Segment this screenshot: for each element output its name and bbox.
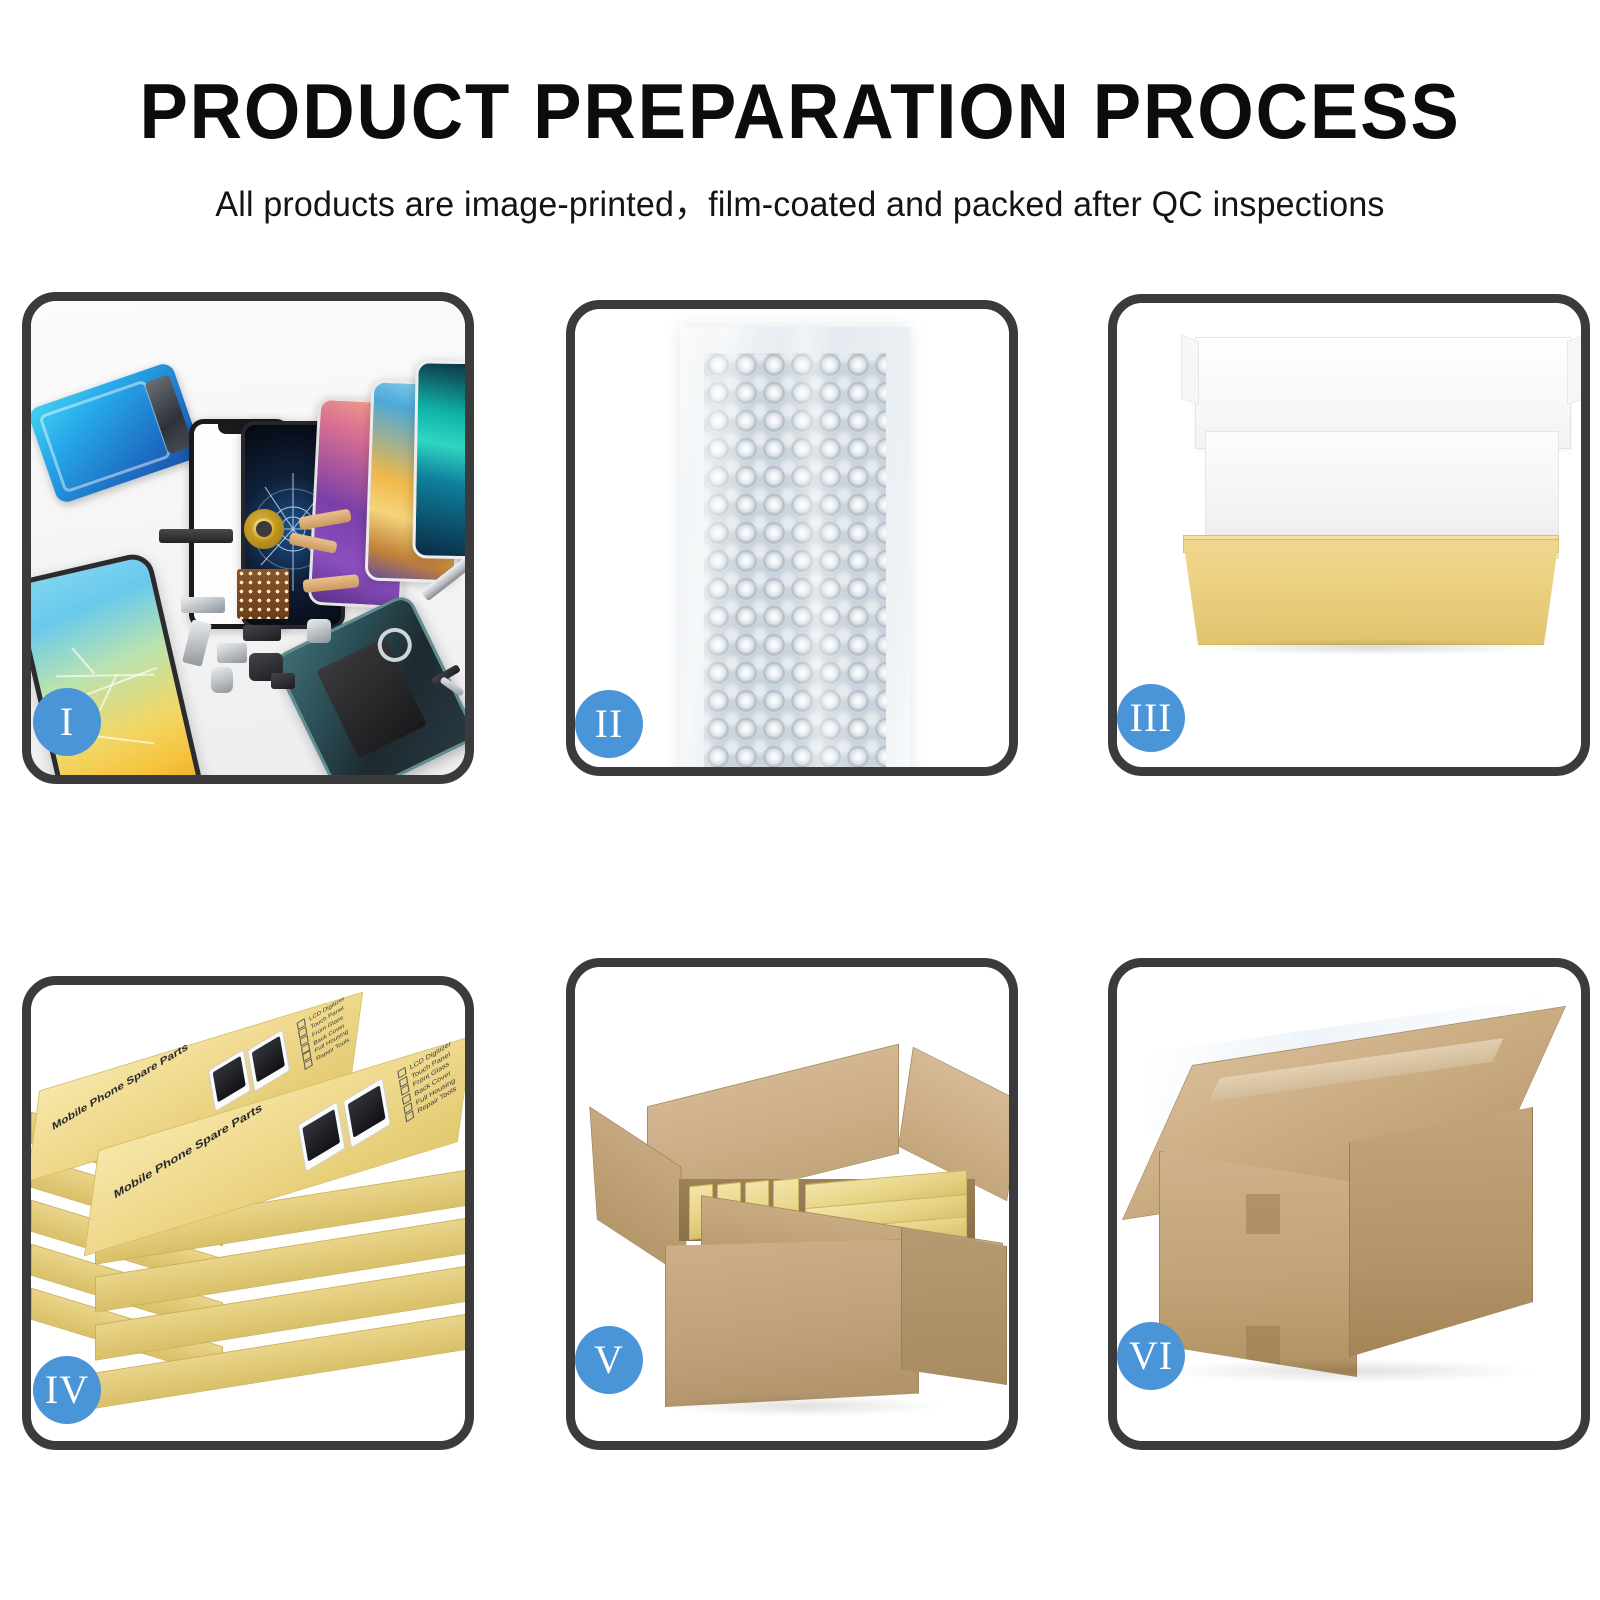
retail-box-phone-image-2 xyxy=(247,1029,290,1092)
connector-part-c xyxy=(217,643,247,663)
sealed-carton-scene xyxy=(1117,967,1581,1441)
step-numeral-4: IV xyxy=(45,1370,89,1410)
carton-drop-shadow xyxy=(663,1395,943,1417)
step-image-2 xyxy=(575,309,1009,767)
step-numeral-6: VI xyxy=(1129,1336,1173,1376)
connector-part-a xyxy=(181,597,225,613)
phone-display-teal xyxy=(412,360,465,560)
step-numeral-2: II xyxy=(595,704,624,744)
tape-tab-upper xyxy=(1246,1194,1280,1234)
box-front-wall xyxy=(1183,539,1559,645)
vibrator-part xyxy=(307,619,331,643)
open-retail-box-scene xyxy=(1117,303,1581,767)
step-badge-1: I xyxy=(33,688,101,756)
ic-chip-part xyxy=(237,569,289,619)
adhesive-frame-icon xyxy=(31,361,203,505)
step-panel-6[interactable] xyxy=(1108,958,1590,1450)
film-sheen xyxy=(680,327,910,767)
retail-box-phone-image-1 xyxy=(208,1049,251,1112)
sim-tray-part xyxy=(211,667,233,693)
step-badge-3: III xyxy=(1117,684,1185,752)
step-badge-5: V xyxy=(575,1326,643,1394)
process-step-grid: I II III xyxy=(0,0,1600,1600)
step-badge-6: VI xyxy=(1117,1322,1185,1390)
carton-front-face xyxy=(1159,1151,1357,1377)
carton-right-face xyxy=(1349,1107,1533,1357)
step-badge-2: II xyxy=(575,690,643,758)
step-image-6 xyxy=(1117,967,1581,1441)
step-numeral-1: I xyxy=(60,702,74,742)
carton-side-face xyxy=(901,1227,1007,1385)
retail-box-checklist-1: LCD Digitizer Touch Panel Front Glass Ba… xyxy=(297,995,353,1071)
module-part-c xyxy=(271,673,295,689)
step-numeral-5: V xyxy=(594,1340,624,1380)
battery-part xyxy=(316,638,427,758)
step-image-3 xyxy=(1117,303,1581,767)
speaker-module-part xyxy=(159,529,233,543)
bubble-wrap-scene xyxy=(575,309,1009,767)
box-drop-shadow xyxy=(1197,639,1545,655)
retail-box-brand-label-1: Mobile Phone Spare Parts xyxy=(51,1041,188,1133)
carton-front-face xyxy=(665,1239,919,1407)
step-badge-4: IV xyxy=(33,1356,101,1424)
module-part-a xyxy=(243,625,281,641)
retail-box-phone-image-4 xyxy=(343,1077,391,1148)
retail-box-checklist-2: LCD Digitizer Touch Panel Front Glass Ba… xyxy=(397,1040,459,1124)
bubble-wrap-bag xyxy=(680,327,910,767)
carton-drop-shadow xyxy=(1157,1359,1537,1383)
connector-part-b xyxy=(182,619,212,667)
retail-box-phone-image-3 xyxy=(297,1101,345,1172)
wireless-charging-coil-part xyxy=(244,509,284,549)
step-numeral-3: III xyxy=(1130,698,1173,738)
